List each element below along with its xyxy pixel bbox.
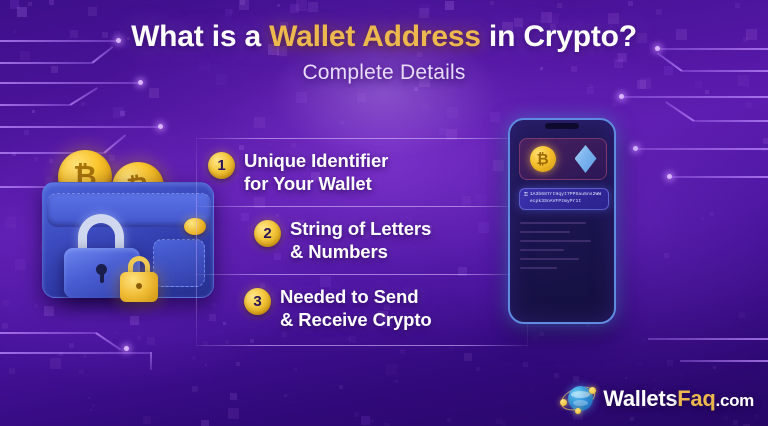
title-part-two: in Crypto? (481, 20, 637, 53)
list-item-number-badge: 2 (254, 220, 281, 247)
wallet-address-chip[interactable]: ⚿ 1A3b687rtHqyt7PPSau5ns2WWecpk3SnAVFPzm… (519, 188, 609, 210)
logo-text-wallets: Wallets (603, 386, 677, 411)
list-item[interactable]: 2 String of Letters & Numbers (254, 218, 431, 263)
infographic-canvas: What is a Wallet Address in Crypto? Comp… (0, 0, 768, 426)
phone-notch (545, 123, 579, 129)
logo-text-faq: Faq (677, 386, 715, 411)
list-item-number-badge: 1 (208, 152, 235, 179)
logo-wordmark: WalletsFaq.com (603, 386, 754, 412)
page-subtitle: Complete Details (0, 61, 768, 85)
key-icon: ⚿ (524, 193, 528, 198)
page-title: What is a Wallet Address in Crypto? (0, 20, 768, 54)
bitcoin-icon: ₿ (530, 146, 556, 172)
smartphone-mockup[interactable]: ₿ ⚿ 1A3b687rtHqyt7PPSau5ns2WWecpk3SnAVFP… (508, 118, 616, 324)
list-item-label: Needed to Send & Receive Crypto (280, 286, 432, 331)
logo-text-com: .com (716, 391, 754, 410)
title-part-one: What is a (131, 20, 269, 53)
list-item-label: String of Letters & Numbers (290, 218, 431, 263)
globe-icon (560, 384, 596, 414)
headline-block: What is a Wallet Address in Crypto? Comp… (0, 20, 768, 85)
crypto-assets-card[interactable]: ₿ (519, 138, 607, 180)
list-item-label: Unique Identifier for Your Wallet (244, 150, 388, 195)
wallet-address-text: 1A3b687rtHqyt7PPSau5ns2WWecpk3SnAVFPzmyP… (530, 192, 604, 206)
phone-placeholder-rows (520, 222, 604, 276)
padlock-gold-icon (120, 256, 158, 302)
list-item-number-badge: 3 (244, 288, 271, 315)
title-highlight: Wallet Address (269, 20, 481, 53)
site-logo[interactable]: WalletsFaq.com (560, 384, 754, 414)
list-item[interactable]: 1 Unique Identifier for Your Wallet (208, 150, 388, 195)
ethereum-icon (575, 145, 597, 173)
feature-list-panel: 1 Unique Identifier for Your Wallet 2 St… (196, 138, 528, 346)
list-item[interactable]: 3 Needed to Send & Receive Crypto (244, 286, 432, 331)
